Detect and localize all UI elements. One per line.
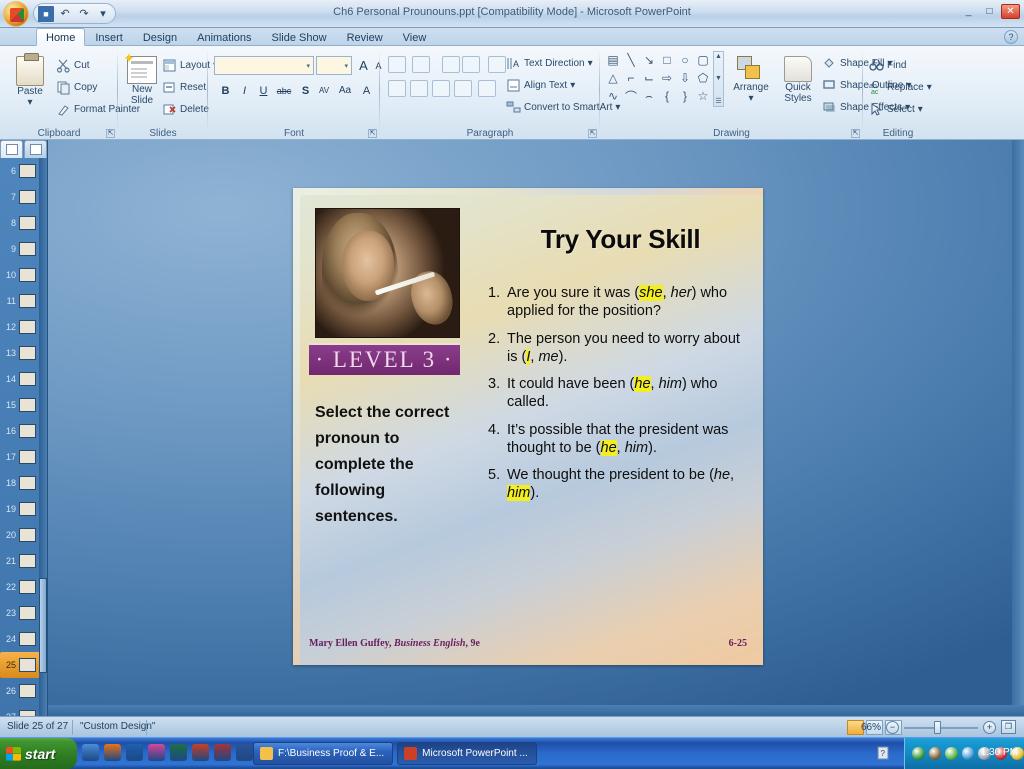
drawing-dialog-launcher[interactable]: ⇱ <box>851 129 860 138</box>
ribbon-tab-review[interactable]: Review <box>337 28 393 46</box>
slide-thumbnail-17[interactable]: 17 <box>0 444 40 470</box>
shape-item-16[interactable]: } <box>683 89 687 103</box>
thumbnail-number: 8 <box>2 218 16 228</box>
question-fragment: , <box>730 467 734 483</box>
layout-icon <box>162 58 177 73</box>
outline-icon <box>822 78 837 93</box>
delete-icon <box>162 102 177 117</box>
thumbnail-preview <box>19 476 36 490</box>
align-left-button[interactable] <box>388 80 406 97</box>
shape-item-14[interactable]: ⌢ <box>645 89 653 104</box>
new-slide-button[interactable]: ✦ New Slide <box>122 56 162 106</box>
slide-navigation-panel: 6789101112131415161718192021222324252627 <box>0 140 48 716</box>
slide-thumbnail-6[interactable]: 6 <box>0 158 40 184</box>
scissors-icon <box>56 58 71 73</box>
thumbnail-number: 22 <box>2 582 16 592</box>
ribbon-group-slides: ✦ New Slide Layout ▾ Reset Delete Slides <box>118 46 208 140</box>
shapes-scroll-up-icon[interactable]: ▲ <box>715 53 722 60</box>
align-text-icon <box>506 78 521 93</box>
slides-tab[interactable] <box>0 140 23 158</box>
slide-thumbnail-14[interactable]: 14 <box>0 366 40 392</box>
tray-antivirus-icon[interactable] <box>945 747 958 760</box>
fill-bucket-icon <box>822 56 837 71</box>
ribbon-tab-view[interactable]: View <box>393 28 437 46</box>
slides-tab-icon <box>6 144 18 155</box>
slide-photo <box>315 208 460 338</box>
powerpoint-icon[interactable] <box>192 744 209 761</box>
task-icon <box>404 747 417 760</box>
slide-footer-citation: Mary Ellen Guffey, Business English, 9e <box>309 638 480 649</box>
tray-shield-icon[interactable] <box>912 747 925 760</box>
shape-item-17[interactable]: ☆ <box>698 89 709 103</box>
font-name-arrow[interactable]: ▾ <box>306 62 310 70</box>
thumbnail-preview <box>19 502 36 516</box>
svg-text:A: A <box>513 59 519 69</box>
font-color-button[interactable]: A <box>357 81 376 100</box>
question-fragment: ). <box>559 349 568 365</box>
thumbnail-number: 6 <box>2 166 16 176</box>
replace-icon: abac <box>869 80 884 95</box>
thumbnail-number: 18 <box>2 478 16 488</box>
thumbnail-number: 20 <box>2 530 16 540</box>
window-controls: _ □ ✕ <box>959 4 1020 19</box>
taskbar: start F:\Business Proof & E...Microsoft … <box>0 737 1024 768</box>
paragraph-dialog-launcher[interactable]: ⇱ <box>588 129 597 138</box>
help-icon[interactable]: ? <box>1004 30 1018 44</box>
drawing-group-label: Drawing <box>600 128 863 139</box>
thumbnail-number: 23 <box>2 608 16 618</box>
question-fragment: him <box>659 376 682 392</box>
slide-thumbnail-13[interactable]: 13 <box>0 340 40 366</box>
slide-editor-area: · LEVEL 3 · Select the correct pronoun t… <box>48 140 1024 716</box>
shape-item-10[interactable]: ⇩ <box>680 71 690 85</box>
taskbar-clock[interactable]: 1:30 PM <box>981 747 1018 758</box>
slide-question-list: 1.Are you sure it was (she, her) who app… <box>488 284 746 512</box>
media-player-icon[interactable] <box>148 744 165 761</box>
level-banner: · LEVEL 3 · <box>309 343 460 375</box>
reset-label: Reset <box>180 82 206 93</box>
quick-styles-label-2: Styles <box>784 93 811 104</box>
align-text-button[interactable]: Align Text ▾ <box>506 78 575 93</box>
window-title: Ch6 Personal Prounouns.ppt [Compatibilit… <box>0 6 1024 18</box>
question-text: The person you need to worry about is (I… <box>507 330 746 367</box>
minimize-button[interactable]: _ <box>959 4 978 19</box>
system-tray[interactable]: 1:30 PM <box>904 738 1024 769</box>
character-spacing-button[interactable]: AV <box>313 81 335 100</box>
highlighted-answer: he <box>634 376 650 392</box>
thumbnail-number: 10 <box>2 270 16 280</box>
slide-question: 4.It’s possible that the president was t… <box>488 421 746 458</box>
start-label: start <box>25 746 55 762</box>
align-right-button[interactable] <box>432 80 450 97</box>
slide-footer: Mary Ellen Guffey, Business English, 9e … <box>309 638 747 649</box>
slide-thumbnail-20[interactable]: 20 <box>0 522 40 548</box>
ribbon-tab-design[interactable]: Design <box>133 28 187 46</box>
question-fragment: We thought the president to be ( <box>507 467 714 483</box>
firefox-icon[interactable] <box>104 744 121 761</box>
question-text: Are you sure it was (she, her) who appli… <box>507 284 746 321</box>
thumbnail-preview <box>19 320 36 334</box>
question-fragment: It could have been ( <box>507 376 634 392</box>
tray-update-icon[interactable] <box>929 747 942 760</box>
clipboard-group-label: Clipboard <box>0 128 118 139</box>
shape-item-15[interactable]: { <box>665 89 669 103</box>
strikethrough-button[interactable]: abc <box>273 81 295 100</box>
arrange-arrow[interactable]: ▾ <box>748 93 753 104</box>
editor-vertical-scrollbar[interactable] <box>1012 140 1024 716</box>
shape-item-12[interactable]: ∿ <box>608 89 618 103</box>
thumbnail-preview <box>19 528 36 542</box>
bold-button[interactable]: B <box>216 81 235 100</box>
slide-count-label: Slide 25 of 27 <box>7 721 68 732</box>
reset-icon <box>162 80 177 95</box>
align-text-arrow[interactable]: ▾ <box>570 80 575 91</box>
slide-thumbnail-12[interactable]: 12 <box>0 314 40 340</box>
outline-tab[interactable] <box>24 140 47 158</box>
thumbnail-number: 25 <box>2 660 16 670</box>
close-button[interactable]: ✕ <box>1001 4 1020 19</box>
svg-text:?: ? <box>881 749 886 758</box>
tray-zone-icon[interactable] <box>962 747 975 760</box>
editing-group-label: Editing <box>863 128 933 139</box>
zoom-out-button[interactable]: − <box>886 721 899 734</box>
binoculars-icon <box>869 58 884 73</box>
slide-thumbnail-21[interactable]: 21 <box>0 548 40 574</box>
slide-thumbnail-9[interactable]: 9 <box>0 236 40 262</box>
increase-indent-button[interactable] <box>462 56 480 73</box>
question-number: 5. <box>488 466 507 503</box>
windows-flag-icon <box>6 747 21 761</box>
ribbon-group-font: ▾ ▾ A A B I U abc S AV Aa A Font ⇱ <box>208 46 380 140</box>
slide-question: 5.We thought the president to be (he, hi… <box>488 466 746 503</box>
slide-instruction-text: Select the correct pronoun to complete t… <box>315 400 455 530</box>
shape-item-4[interactable]: ○ <box>681 53 688 67</box>
taskbar-task[interactable]: Microsoft PowerPoint ... <box>397 742 537 765</box>
shape-item-3[interactable]: □ <box>663 53 670 67</box>
shape-item-13[interactable]: ⌒ <box>625 88 637 105</box>
arrange-icon <box>737 56 765 82</box>
quick-launch-bar[interactable] <box>82 744 275 761</box>
replace-arrow[interactable]: ▾ <box>927 82 932 93</box>
thumbnail-number: 11 <box>2 296 16 306</box>
effects-icon <box>822 100 837 115</box>
arrange-button[interactable]: Arrange ▾ <box>728 56 774 104</box>
thumbnail-number: 15 <box>2 400 16 410</box>
slide-thumbnail-7[interactable]: 7 <box>0 184 40 210</box>
theme-name-label: "Custom Design" <box>80 721 155 732</box>
cut-button[interactable]: Cut <box>56 58 90 73</box>
thumbnail-preview <box>19 216 36 230</box>
thumbnail-preview <box>19 398 36 412</box>
cursor-arrow-icon <box>869 102 884 117</box>
layout-label: Layout <box>180 60 210 71</box>
svg-text:ac: ac <box>871 89 879 95</box>
status-bar: Slide 25 of 27 "Custom Design" 66% − + ❐ <box>0 716 1024 737</box>
zoom-percent-label: 66% <box>861 722 881 733</box>
scrollbar-thumb[interactable] <box>39 578 47 673</box>
thumbnail-number: 21 <box>2 556 16 566</box>
italic-button[interactable]: I <box>235 81 254 100</box>
highlighted-answer: him <box>507 485 530 501</box>
slide-panel-tabs <box>0 140 48 158</box>
shape-item-0[interactable]: ▤ <box>607 53 618 67</box>
slide-thumbnail-list[interactable]: 6789101112131415161718192021222324252627 <box>0 158 40 716</box>
zoom-slider-track <box>904 727 978 729</box>
slide-thumbnail-11[interactable]: 11 <box>0 288 40 314</box>
thumbnail-number: 7 <box>2 192 16 202</box>
task-label: Microsoft PowerPoint ... <box>422 748 528 759</box>
justify-button[interactable] <box>454 80 472 97</box>
shape-item-2[interactable]: ↘ <box>644 53 654 67</box>
thumbnail-preview <box>19 632 36 646</box>
question-number: 2. <box>488 330 507 367</box>
footer-book: Business English <box>394 638 465 649</box>
find-label: Find <box>887 60 906 71</box>
new-slide-icon: ✦ <box>127 56 157 84</box>
ribbon: Paste ▾ Cut Copy Format Painter Clipboar… <box>0 46 1024 140</box>
text-direction-label: Text Direction <box>524 58 585 69</box>
quick-styles-label-1: Quick <box>785 82 811 93</box>
footer-author: Mary Ellen Guffey, <box>309 638 394 649</box>
sparkle-icon: ✦ <box>122 51 136 65</box>
replace-button[interactable]: abac Replace ▾ <box>869 80 932 95</box>
ribbon-tab-home[interactable]: Home <box>36 28 85 46</box>
text-direction-button[interactable]: A Text Direction ▾ <box>506 56 593 71</box>
question-number: 4. <box>488 421 507 458</box>
thumbnail-preview <box>19 242 36 256</box>
shapes-gallery[interactable]: ▤╲↘□○▢△⌐⌙⇨⇩⬠∿⌒⌢{}☆ <box>604 51 712 107</box>
slide-thumbnail-16[interactable]: 16 <box>0 418 40 444</box>
line-spacing-button[interactable] <box>488 56 506 73</box>
paste-button[interactable]: Paste ▾ <box>8 56 52 108</box>
question-fragment: he <box>714 467 730 483</box>
align-center-button[interactable] <box>410 80 428 97</box>
arrange-label: Arrange <box>733 82 769 93</box>
slide-thumbnail-24[interactable]: 24 <box>0 626 40 652</box>
taskbar-task-list[interactable]: F:\Business Proof & E...Microsoft PowerP… <box>253 742 537 765</box>
thumbnail-preview <box>19 294 36 308</box>
zoom-slider-thumb[interactable] <box>934 721 941 734</box>
columns-button[interactable] <box>478 80 496 97</box>
font-size-input[interactable]: ▾ <box>316 56 352 75</box>
thumbnail-number: 13 <box>2 348 16 358</box>
question-fragment: me <box>538 349 558 365</box>
text-direction-arrow[interactable]: ▾ <box>588 58 593 69</box>
slide-footer-page: 6-25 <box>729 638 747 649</box>
current-slide[interactable]: · LEVEL 3 · Select the correct pronoun t… <box>293 188 763 665</box>
new-slide-label-1: New <box>132 84 152 95</box>
editor-horizontal-scrollbar[interactable] <box>48 705 1024 716</box>
new-slide-label-2: Slide <box>131 95 153 106</box>
thumbnail-number: 17 <box>2 452 16 462</box>
thumbnail-preview <box>19 346 36 360</box>
decrease-indent-button[interactable] <box>442 56 460 73</box>
slide-title: Try Your Skill <box>488 224 753 255</box>
ribbon-tab-strip: HomeInsertDesignAnimationsSlide ShowRevi… <box>0 28 1024 46</box>
question-fragment: , <box>663 285 671 301</box>
slide-thumbnail-10[interactable]: 10 <box>0 262 40 288</box>
thumbnail-preview <box>19 190 36 204</box>
shape-item-5[interactable]: ▢ <box>697 53 708 67</box>
fit-to-window-button[interactable]: ❐ <box>1001 720 1016 734</box>
shape-item-11[interactable]: ⬠ <box>698 71 708 85</box>
question-fragment: her <box>671 285 692 301</box>
status-divider <box>146 720 147 735</box>
select-arrow[interactable]: ▾ <box>918 104 923 115</box>
slide-thumbnail-8[interactable]: 8 <box>0 210 40 236</box>
thumbnail-number: 19 <box>2 504 16 514</box>
copy-label: Copy <box>74 82 97 93</box>
task-label: F:\Business Proof & E... <box>278 748 384 759</box>
question-text: It’s possible that the president was tho… <box>507 421 746 458</box>
shape-item-9[interactable]: ⇨ <box>662 71 672 85</box>
ribbon-group-drawing: ▤╲↘□○▢△⌐⌙⇨⇩⬠∿⌒⌢{}☆ ▲ ▼ ☰ Arrange ▾ Quick… <box>600 46 863 140</box>
question-text: We thought the president to be (he, him)… <box>507 466 746 503</box>
change-case-button[interactable]: Aa <box>335 81 355 100</box>
shape-item-8[interactable]: ⌙ <box>644 71 654 85</box>
access-icon[interactable] <box>214 744 231 761</box>
font-group-label: Font <box>208 128 380 139</box>
thumbnail-number: 14 <box>2 374 16 384</box>
slide-thumbnail-27[interactable]: 27 <box>0 704 40 716</box>
thumbnail-number: 9 <box>2 244 16 254</box>
question-fragment: ). <box>530 485 539 501</box>
find-button[interactable]: Find <box>869 58 906 73</box>
select-button[interactable]: Select ▾ <box>869 102 923 117</box>
smartart-icon <box>506 100 521 115</box>
shapes-scroll-down-icon[interactable]: ▼ <box>715 75 722 82</box>
ribbon-group-editing: Find abac Replace ▾ Select ▾ Editing <box>863 46 933 140</box>
highlighted-answer: he <box>601 440 617 456</box>
outline-tab-icon <box>30 144 42 155</box>
ribbon-tab-slide-show[interactable]: Slide Show <box>262 28 337 46</box>
ribbon-tabs: HomeInsertDesignAnimationsSlide ShowRevi… <box>36 28 436 46</box>
paste-icon <box>16 56 44 86</box>
thumbnail-number: 16 <box>2 426 16 436</box>
question-fragment: Are you sure it was ( <box>507 285 639 301</box>
font-name-input[interactable]: ▾ <box>214 56 314 75</box>
delete-label: Delete <box>180 104 209 115</box>
footer-edition: , 9e <box>465 638 479 649</box>
thumbnail-preview <box>19 268 36 282</box>
zoom-controls: 66% − + ❐ <box>861 720 1016 734</box>
slide-thumbnail-15[interactable]: 15 <box>0 392 40 418</box>
shapes-more-icon[interactable]: ☰ <box>715 97 721 105</box>
status-divider <box>72 720 73 735</box>
excel-icon[interactable] <box>170 744 187 761</box>
delete-slide-button[interactable]: Delete <box>162 102 209 117</box>
zoom-in-button[interactable]: + <box>983 721 996 734</box>
outlook-icon[interactable] <box>126 744 143 761</box>
copy-button[interactable]: Copy <box>56 80 97 95</box>
slide-left-edge <box>293 188 300 665</box>
paste-dropdown-arrow[interactable]: ▾ <box>27 97 32 108</box>
slide-top-edge <box>293 188 763 195</box>
slide-thumbnail-25[interactable]: 25 <box>0 652 40 678</box>
thumbnail-preview <box>19 606 36 620</box>
slide-question: 3.It could have been (he, him) who calle… <box>488 375 746 412</box>
font-dialog-launcher[interactable]: ⇱ <box>368 129 377 138</box>
reset-button[interactable]: Reset <box>162 80 206 95</box>
thumbnail-number: 12 <box>2 322 16 332</box>
taskbar-task[interactable]: F:\Business Proof & E... <box>253 742 393 765</box>
bullets-button[interactable] <box>388 56 406 73</box>
thumbnail-preview <box>19 372 36 386</box>
thumbnail-preview <box>19 684 36 698</box>
font-size-arrow[interactable]: ▾ <box>344 62 348 70</box>
paragraph-group-label: Paragraph <box>380 128 600 139</box>
slide-thumbnail-22[interactable]: 22 <box>0 574 40 600</box>
align-text-label: Align Text <box>524 80 567 91</box>
text-direction-icon: A <box>506 56 521 71</box>
shape-item-1[interactable]: ╲ <box>627 53 634 67</box>
highlighted-answer: she <box>639 285 662 301</box>
quick-styles-icon <box>784 56 812 82</box>
thumbnail-preview <box>19 164 36 178</box>
replace-label: Replace <box>887 82 924 93</box>
paintbrush-icon <box>56 102 71 117</box>
copy-icon <box>56 80 71 95</box>
thumbnail-preview <box>19 580 36 594</box>
question-fragment: , <box>617 440 625 456</box>
question-text: It could have been (he, him) who called. <box>507 375 746 412</box>
zoom-slider[interactable] <box>904 721 978 734</box>
shape-item-7[interactable]: ⌐ <box>627 71 634 85</box>
select-label: Select <box>887 104 915 115</box>
question-fragment: him <box>625 440 648 456</box>
title-bar: ■ ↶ ↷ ▾ Ch6 Personal Prounouns.ppt [Comp… <box>0 0 1024 28</box>
slides-group-label: Slides <box>118 128 208 139</box>
ribbon-tab-insert[interactable]: Insert <box>85 28 133 46</box>
thumbnail-number: 26 <box>2 686 16 696</box>
ribbon-group-clipboard: Paste ▾ Cut Copy Format Painter Clipboar… <box>0 46 118 140</box>
underline-button[interactable]: U <box>254 81 273 100</box>
maximize-button[interactable]: □ <box>980 4 999 19</box>
thumbnail-preview <box>19 554 36 568</box>
slide-question: 1.Are you sure it was (she, her) who app… <box>488 284 746 321</box>
paste-label: Paste <box>17 86 43 97</box>
quick-styles-button[interactable]: Quick Styles <box>776 56 820 104</box>
question-fragment: ). <box>648 440 657 456</box>
shapes-scrollbar[interactable]: ▲ ▼ ☰ <box>713 51 724 107</box>
thumbnail-preview <box>19 658 36 672</box>
word-icon[interactable] <box>236 744 253 761</box>
slide-panel-scrollbar[interactable] <box>39 158 47 716</box>
internet-explorer-icon[interactable] <box>82 744 99 761</box>
slide-corner-accent <box>293 188 309 204</box>
slide-thumbnail-18[interactable]: 18 <box>0 470 40 496</box>
question-fragment: , <box>651 376 659 392</box>
slide-thumbnail-23[interactable]: 23 <box>0 600 40 626</box>
slide-question: 2.The person you need to worry about is … <box>488 330 746 367</box>
numbering-button[interactable] <box>412 56 430 73</box>
task-icon <box>260 747 273 760</box>
thumbnail-number: 24 <box>2 634 16 644</box>
shape-item-6[interactable]: △ <box>608 71 617 85</box>
question-number: 3. <box>488 375 507 412</box>
slide-thumbnail-19[interactable]: 19 <box>0 496 40 522</box>
ribbon-group-paragraph: A Text Direction ▾ Align Text ▾ Convert … <box>380 46 600 140</box>
question-number: 1. <box>488 284 507 321</box>
start-button[interactable]: start <box>0 738 77 769</box>
thumbnail-preview <box>19 450 36 464</box>
slide-thumbnail-26[interactable]: 26 <box>0 678 40 704</box>
thumbnail-preview <box>19 424 36 438</box>
cut-label: Cut <box>74 60 90 71</box>
tray-expand-button[interactable]: ? <box>874 743 896 764</box>
clipboard-dialog-launcher[interactable]: ⇱ <box>106 129 115 138</box>
ribbon-tab-animations[interactable]: Animations <box>187 28 261 46</box>
